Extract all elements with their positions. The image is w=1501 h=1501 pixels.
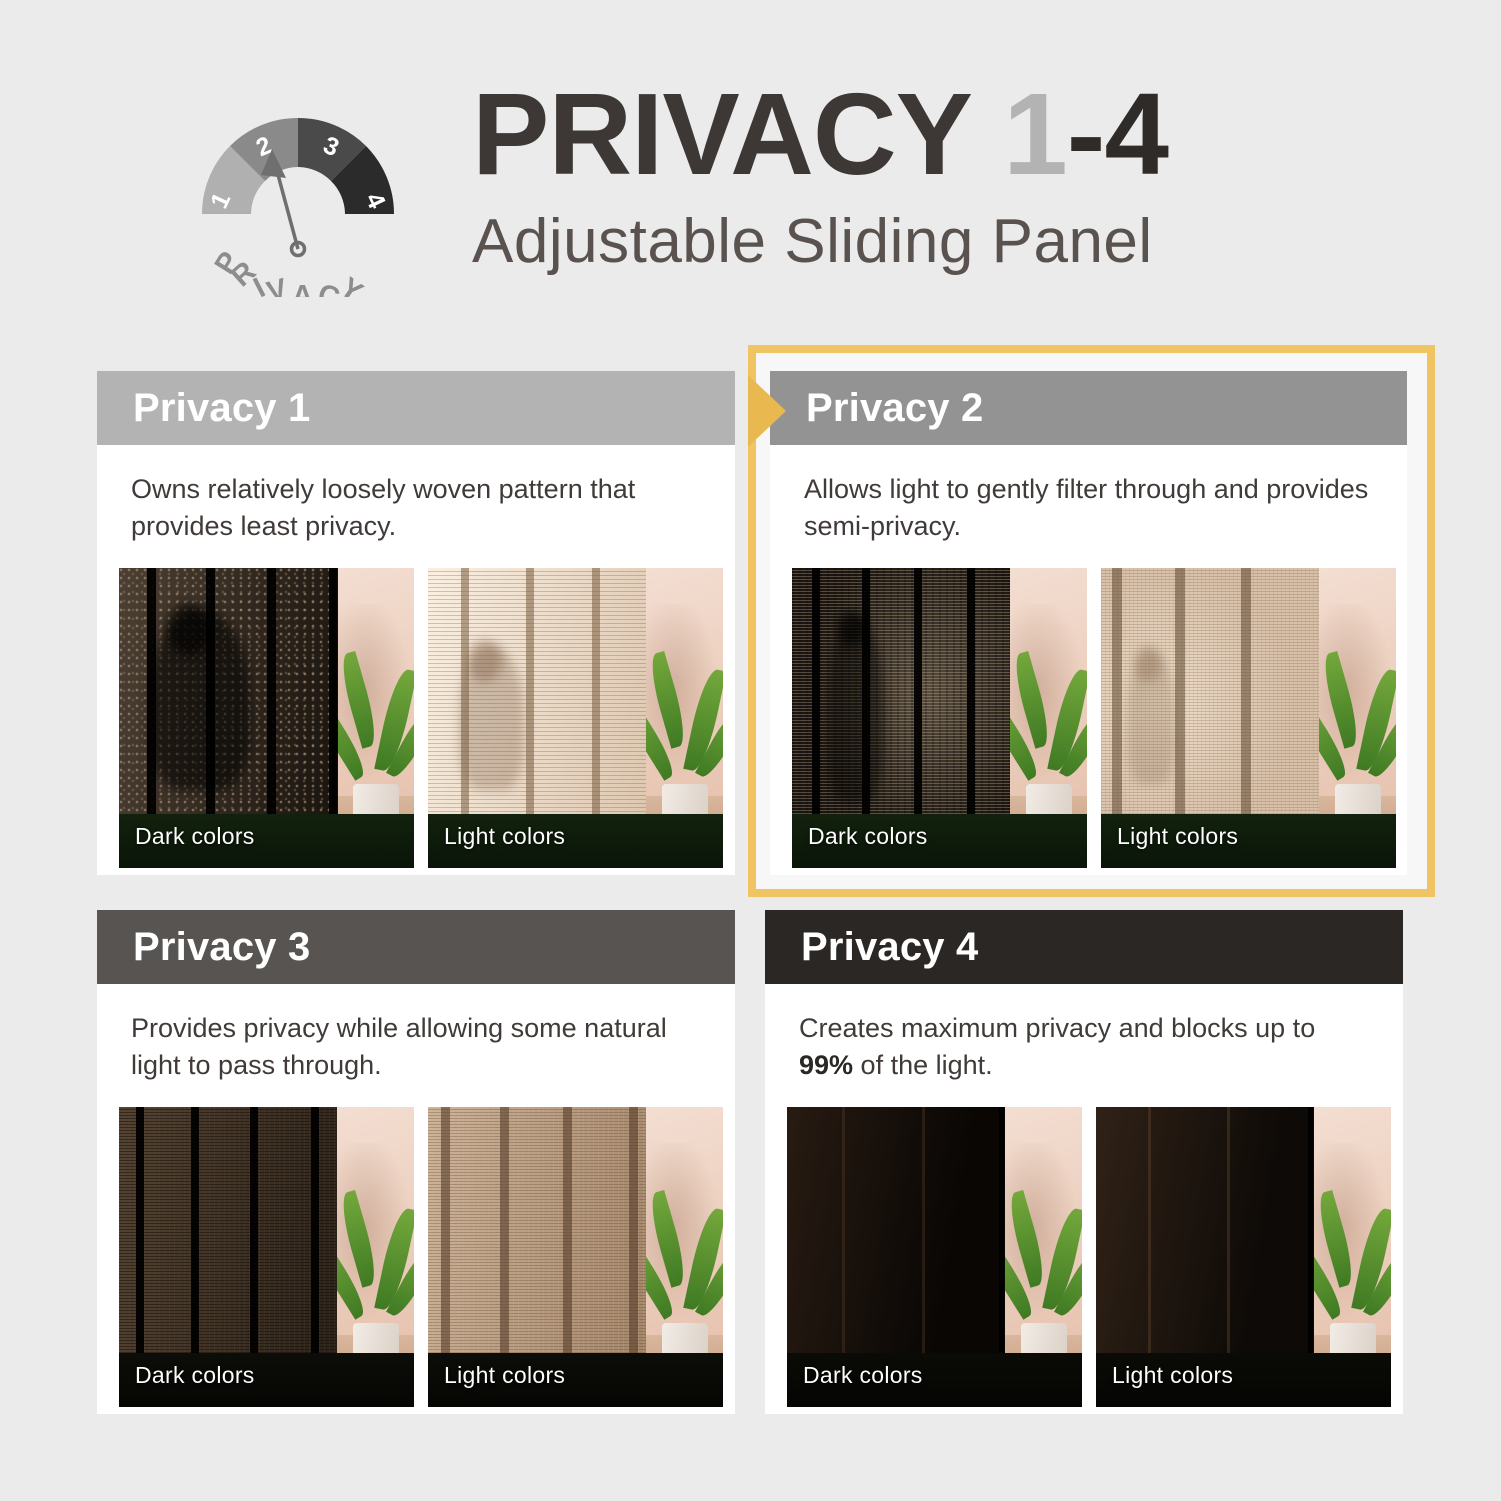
- person-head-silhouette: [167, 604, 211, 655]
- photo-privacy-4-dark[interactable]: Dark colors: [787, 1107, 1082, 1407]
- card-header-privacy-1: Privacy 1: [97, 371, 735, 445]
- card-header-privacy-2: Privacy 2: [770, 371, 1407, 445]
- page-title: PRIVACY 1-4: [472, 76, 1292, 192]
- card-header-privacy-3: Privacy 3: [97, 910, 735, 984]
- photo-label-light: Light colors: [1117, 823, 1238, 850]
- page-title-word: PRIVACY: [472, 69, 972, 199]
- card-description-privacy-4: Creates maximum privacy and blocks up to…: [765, 984, 1403, 1083]
- card-title-privacy-4: Privacy 4: [801, 925, 979, 970]
- photo-row-privacy-3: Dark colors: [97, 1083, 735, 1437]
- privacy-gauge-icon: 1 2 3 4 P R I V A C Y: [188, 62, 408, 297]
- photo-privacy-3-light[interactable]: Light colors: [428, 1107, 723, 1407]
- card-privacy-1[interactable]: Privacy 1 Owns relatively loosely woven …: [97, 371, 735, 875]
- page-title-range-end: 4: [1104, 69, 1168, 199]
- active-pointer-icon: [748, 375, 786, 447]
- card-privacy-4[interactable]: Privacy 4 Creates maximum privacy and bl…: [765, 910, 1403, 1414]
- photo-label-dark: Dark colors: [135, 823, 255, 850]
- card-description-privacy-1: Owns relatively loosely woven pattern th…: [97, 445, 735, 544]
- photo-label-light: Light colors: [444, 823, 565, 850]
- gauge-label-letter: V: [264, 273, 292, 297]
- card-privacy-2[interactable]: Privacy 2 Allows light to gently filter …: [770, 371, 1407, 875]
- photo-label-light: Light colors: [444, 1362, 565, 1389]
- gauge-label-letter: A: [292, 280, 313, 297]
- title-block: PRIVACY 1-4 Adjustable Sliding Panel: [472, 76, 1292, 277]
- photo-row-privacy-4: Dark colors: [765, 1083, 1403, 1437]
- photo-row-privacy-1: Dark colors: [97, 544, 735, 898]
- card-description-privacy-4-prefix: Creates maximum privacy and blocks up to: [799, 1013, 1315, 1043]
- photo-label-dark: Dark colors: [803, 1362, 923, 1389]
- card-description-privacy-4-value: 99%: [799, 1050, 853, 1080]
- photo-label-dark: Dark colors: [135, 1362, 255, 1389]
- card-title-privacy-1: Privacy 1: [133, 386, 311, 431]
- photo-privacy-3-dark[interactable]: Dark colors: [119, 1107, 414, 1407]
- card-privacy-3[interactable]: Privacy 3 Provides privacy while allowin…: [97, 910, 735, 1414]
- photo-privacy-2-dark[interactable]: Dark colors: [792, 568, 1087, 868]
- page-subtitle: Adjustable Sliding Panel: [472, 206, 1292, 277]
- photo-label-dark: Dark colors: [808, 823, 928, 850]
- card-description-privacy-2: Allows light to gently filter through an…: [770, 445, 1407, 544]
- page-title-range-start: 1: [1003, 69, 1067, 199]
- card-description-privacy-3: Provides privacy while allowing some nat…: [97, 984, 735, 1083]
- photo-privacy-1-light[interactable]: Light colors: [428, 568, 723, 868]
- card-description-privacy-4-suffix: of the light.: [853, 1050, 993, 1080]
- page-title-range-dash: -: [1067, 69, 1105, 199]
- photo-privacy-4-light[interactable]: Light colors: [1096, 1107, 1391, 1407]
- photo-privacy-1-dark[interactable]: Dark colors: [119, 568, 414, 868]
- photo-row-privacy-2: Dark colors: [770, 544, 1407, 898]
- card-privacy-2-highlight-frame[interactable]: Privacy 2 Allows light to gently filter …: [748, 345, 1435, 897]
- card-title-privacy-2: Privacy 2: [806, 386, 984, 431]
- photo-label-light: Light colors: [1112, 1362, 1233, 1389]
- card-header-privacy-4: Privacy 4: [765, 910, 1403, 984]
- card-title-privacy-3: Privacy 3: [133, 925, 311, 970]
- page-header: 1 2 3 4 P R I V A C Y PRIVACY 1-4 A: [0, 0, 1501, 330]
- photo-privacy-2-light[interactable]: Light colors: [1101, 568, 1396, 868]
